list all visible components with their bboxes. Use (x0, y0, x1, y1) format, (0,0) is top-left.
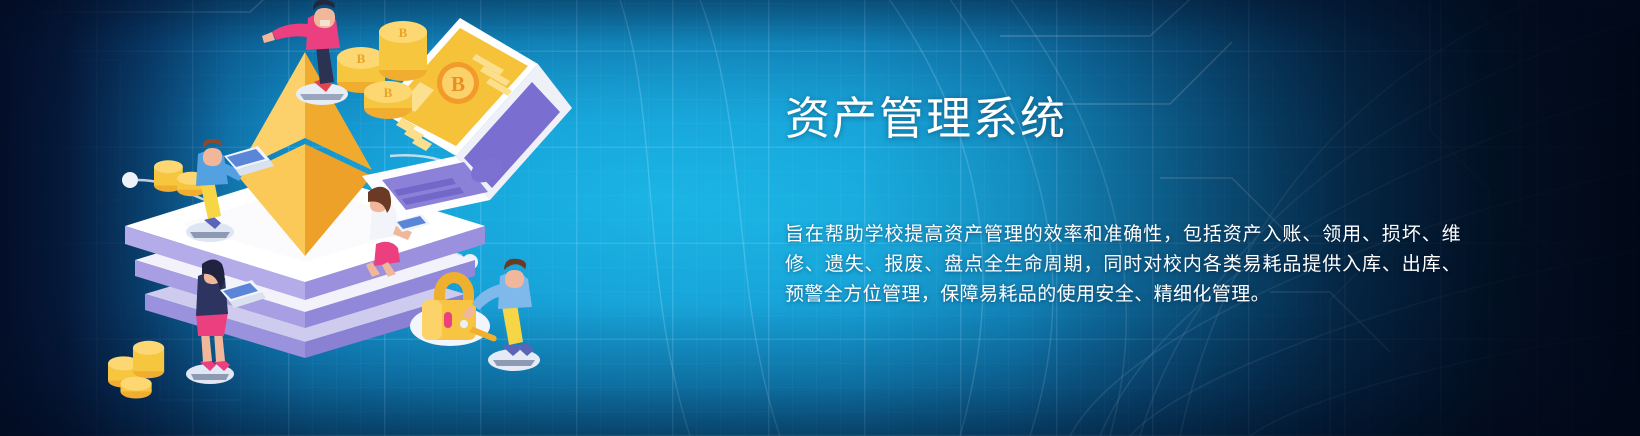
page-title: 资产管理系统 (785, 96, 1485, 141)
asset-management-banner: B (0, 0, 1640, 436)
connector-node-left (122, 172, 138, 188)
illustration-isometric-asset-management: B (60, 0, 620, 436)
svg-text:B: B (357, 51, 366, 66)
svg-text:B: B (384, 85, 393, 100)
banner-text-block: 资产管理系统 旨在帮助学校提高资产管理的效率和准确性，包括资产入账、领用、损坏、… (785, 96, 1485, 329)
svg-text:B: B (399, 25, 408, 40)
page-description: 旨在帮助学校提高资产管理的效率和准确性，包括资产入账、领用、损坏、维修、遗失、报… (785, 220, 1461, 310)
coin-stack-bottom (108, 341, 164, 399)
svg-text:B: B (451, 72, 465, 96)
